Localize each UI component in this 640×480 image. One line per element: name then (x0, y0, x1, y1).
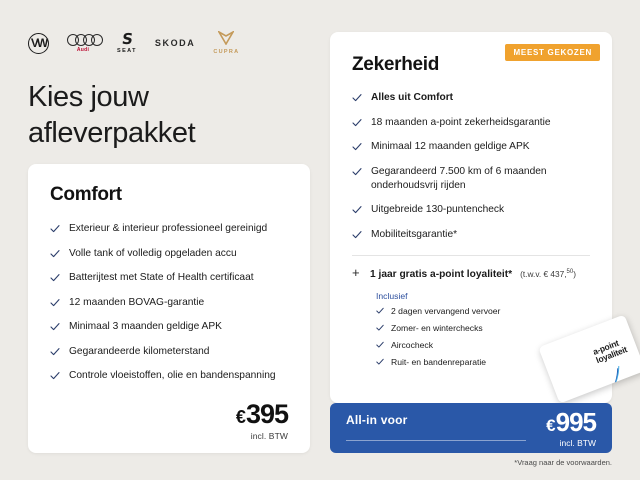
list-item-label: Aircocheck (391, 340, 433, 352)
vw-icon: VW (28, 33, 49, 54)
seat-icon: S (120, 32, 133, 47)
list-item: Zomer- en winterchecks (376, 323, 590, 335)
seat-logo-label: SEAT (117, 48, 137, 54)
audi-logo: Audi (67, 34, 99, 53)
currency-symbol: € (236, 408, 245, 426)
loyalty-label: 1 jaar gratis a-point loyaliteit* (370, 269, 512, 280)
plus-icon: + (352, 268, 362, 278)
list-item-label: Alles uit Comfort (371, 91, 453, 105)
skoda-logo: SKODA (155, 38, 196, 48)
list-item-label: Batterijtest met State of Health certifi… (69, 271, 254, 285)
loyalty-note-pre: (t.w.v. € 437, (520, 269, 566, 279)
comfort-feature-list: Exterieur & interieur professioneel gere… (50, 222, 288, 384)
check-icon (376, 341, 384, 349)
check-icon (376, 307, 384, 315)
footnote: *Vraag naar de voorwaarden. (514, 458, 612, 467)
cupra-logo-label: CUPRA (213, 49, 239, 55)
list-item-label: Zomer- en winterchecks (391, 323, 483, 335)
check-icon (50, 249, 60, 259)
check-icon (352, 205, 362, 215)
list-item: Uitgebreide 130-puntencheck (352, 203, 590, 217)
all-in-price-block: €995 incl. BTW (546, 409, 596, 448)
cupra-logo: CUPRA (213, 31, 239, 55)
page-root: VW Audi S SEAT SKODA CUPRA Kies jouw afl… (0, 0, 640, 480)
loyalty-row: + 1 jaar gratis a-point loyaliteit* (t.w… (352, 268, 590, 280)
list-item-label: 18 maanden a-point zekerheidsgarantie (371, 116, 551, 130)
zekerheid-feature-list: Alles uit Comfort 18 maanden a-point zek… (352, 91, 590, 242)
check-icon (50, 224, 60, 234)
check-icon (352, 230, 362, 240)
list-item-label: Minimaal 3 maanden geldige APK (69, 320, 222, 334)
comfort-title: Comfort (50, 184, 288, 206)
list-item-label: 12 maanden BOVAG-garantie (69, 296, 204, 310)
page-title: Kies jouw afleverpakket (28, 80, 195, 152)
list-item: Mobiliteitsgarantie* (352, 228, 590, 242)
list-item-label: Controle vloeistoffen, olie en bandenspa… (69, 369, 276, 383)
list-item-label: Exterieur & interieur professioneel gere… (69, 222, 267, 236)
comfort-price-note: incl. BTW (236, 431, 288, 441)
volkswagen-logo: VW (28, 33, 49, 54)
comfort-price: €395 (236, 401, 288, 428)
list-item-label: Gegarandeerde kilometerstand (69, 345, 209, 359)
skoda-logo-label: SKODA (155, 38, 196, 48)
list-item-label: Gegarandeerd 7.500 km of 6 maanden onder… (371, 165, 590, 193)
list-item: Gegarandeerd 7.500 km of 6 maanden onder… (352, 165, 590, 193)
check-icon (352, 167, 362, 177)
list-item: 18 maanden a-point zekerheidsgarantie (352, 116, 590, 130)
list-item-label: Mobiliteitsgarantie* (371, 228, 457, 242)
list-item-label: Volle tank of volledig opgeladen accu (69, 247, 237, 261)
check-icon (50, 347, 60, 357)
divider (352, 255, 590, 256)
all-in-price-amount: 995 (556, 409, 596, 435)
all-in-price: €995 (546, 409, 596, 435)
list-item: Gegarandeerde kilometerstand (50, 345, 288, 359)
list-item: Controle vloeistoffen, olie en bandenspa… (50, 369, 288, 383)
check-icon (50, 322, 60, 332)
loyalty-note-post: ) (573, 269, 576, 279)
comfort-package-card[interactable]: Comfort Exterieur & interieur profession… (28, 164, 310, 453)
audi-logo-label: Audi (77, 47, 89, 53)
all-in-price-note: incl. BTW (546, 438, 596, 448)
list-item-label: Uitgebreide 130-puntencheck (371, 203, 504, 217)
list-item-label: Ruit- en bandenreparatie (391, 357, 486, 369)
check-icon (352, 118, 362, 128)
seat-logo: S SEAT (117, 32, 137, 54)
divider (346, 440, 526, 441)
list-item: Minimaal 12 maanden geldige APK (352, 140, 590, 154)
check-icon (352, 142, 362, 152)
audi-rings-icon (67, 34, 99, 46)
status-badge: MEEST GEKOZEN (505, 44, 600, 61)
comfort-price-amount: 395 (246, 401, 288, 428)
brand-logo-strip: VW Audi S SEAT SKODA CUPRA (28, 30, 239, 56)
list-item: Minimaal 3 maanden geldige APK (50, 320, 288, 334)
check-icon (50, 273, 60, 283)
check-icon (50, 371, 60, 381)
cupra-triangle-icon (218, 31, 234, 45)
list-item: 12 maanden BOVAG-garantie (50, 296, 288, 310)
check-icon (376, 358, 384, 366)
list-item-label: Minimaal 12 maanden geldige APK (371, 140, 530, 154)
check-icon (50, 298, 60, 308)
all-in-price-bar[interactable]: All-in voor €995 incl. BTW (330, 403, 612, 453)
list-item: 2 dagen vervangend vervoer (376, 306, 590, 318)
check-icon (352, 93, 362, 103)
comfort-price-block: €395 incl. BTW (236, 401, 288, 441)
cupra-icon (218, 31, 234, 48)
list-item: Batterijtest met State of Health certifi… (50, 271, 288, 285)
list-item: Exterieur & interieur professioneel gere… (50, 222, 288, 236)
inclusief-section: Inclusief 2 dagen vervangend vervoer Zom… (376, 291, 590, 369)
check-icon (376, 324, 384, 332)
zekerheid-package-card[interactable]: MEEST GEKOZEN Zekerheid Alles uit Comfor… (330, 32, 612, 403)
loyalty-value-note: (t.w.v. € 437,50) (520, 269, 576, 279)
list-item: Alles uit Comfort (352, 91, 590, 105)
list-item-label: 2 dagen vervangend vervoer (391, 306, 500, 318)
currency-symbol: € (546, 417, 554, 434)
inclusief-title: Inclusief (376, 291, 590, 301)
list-item: Volle tank of volledig opgeladen accu (50, 247, 288, 261)
